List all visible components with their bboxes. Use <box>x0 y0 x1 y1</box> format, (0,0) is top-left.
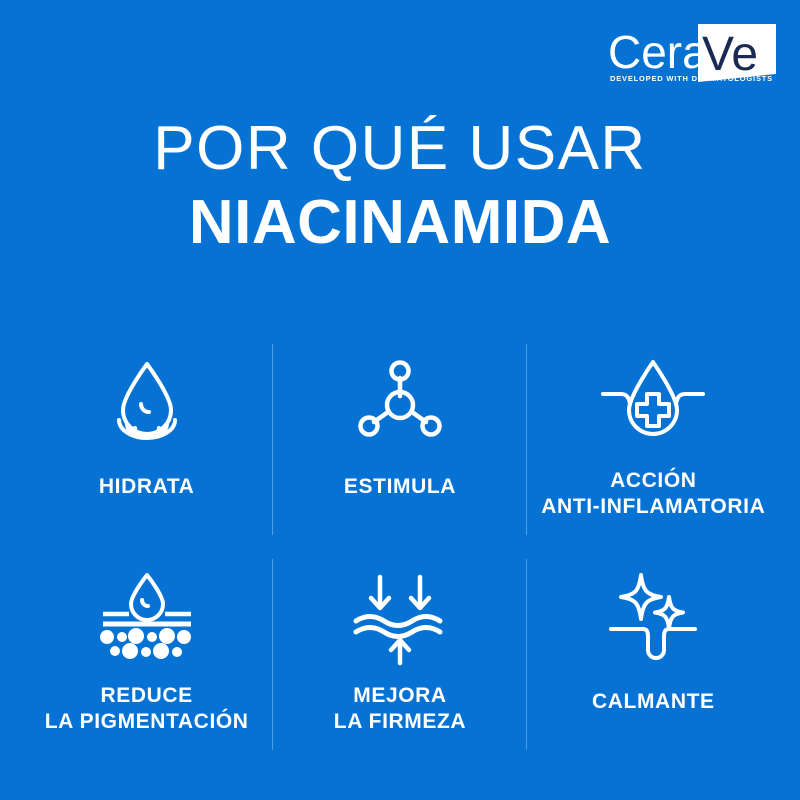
page-title-line-2: NIACINAMIDA <box>0 192 800 254</box>
benefit-item-accion-anti-inflamatoria: ACCIÓN ANTI-INFLAMATORIA <box>527 330 780 545</box>
page-title: POR QUÉ USAR NIACINAMIDA <box>0 118 800 254</box>
benefit-label: ESTIMULA <box>344 474 456 500</box>
benefits-grid: HIDRATA ESTIMULA <box>20 330 780 760</box>
cerave-logo: Cera Ve DEVELOPED WITH DERMATOLOGISTS <box>606 24 776 86</box>
benefit-item-estimula: ESTIMULA <box>273 330 526 545</box>
water-droplet-ripple-icon <box>95 348 199 460</box>
droplet-medical-cross-icon <box>595 348 711 460</box>
page-title-line-1: POR QUÉ USAR <box>0 118 800 180</box>
benefit-item-mejora-la-firmeza: MEJORA LA FIRMEZA <box>273 545 526 760</box>
sparkle-pore-icon <box>597 563 709 675</box>
benefit-label: ACCIÓN ANTI-INFLAMATORIA <box>541 468 765 519</box>
benefit-item-calmante: CALMANTE <box>527 545 780 760</box>
benefit-item-reduce-la-pigmentacion: REDUCE LA PIGMENTACIÓN <box>20 545 273 760</box>
logo-tagline: DEVELOPED WITH DERMATOLOGISTS <box>610 74 773 83</box>
benefit-label: MEJORA LA FIRMEZA <box>334 683 466 734</box>
firmness-arrows-waves-icon <box>344 563 456 675</box>
benefit-label: REDUCE LA PIGMENTACIÓN <box>45 683 249 734</box>
skin-layers-pigment-icon <box>89 563 205 675</box>
svg-text:Cera: Cera <box>608 26 708 78</box>
molecule-icon <box>348 348 452 460</box>
benefit-item-hidrata: HIDRATA <box>20 330 273 545</box>
benefit-label: HIDRATA <box>99 474 195 500</box>
benefit-label: CALMANTE <box>592 689 715 715</box>
promo-poster: Cera Ve DEVELOPED WITH DERMATOLOGISTS PO… <box>0 0 800 800</box>
